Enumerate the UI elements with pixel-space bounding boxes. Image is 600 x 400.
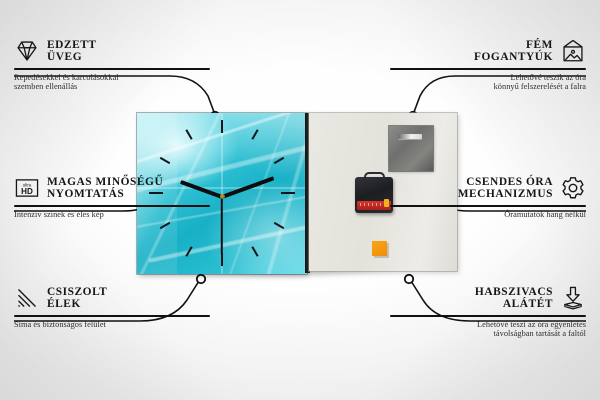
feature-subtitle: Lehetővé teszi az óra egyenletes távolsá…: [390, 320, 586, 340]
clock-tick: [160, 157, 171, 164]
feature-title: MAGAS MINŐSÉGŰ NYOMTATÁS: [47, 176, 163, 201]
infographic-canvas: EDZETT ÜVEG Repedésekkel és karcolásokka…: [0, 0, 600, 400]
feature-foam-pad: HABSZIVACS ALÁTÉT Lehetővé teszi az óra …: [390, 285, 586, 339]
picture-hanger-icon: [560, 38, 586, 64]
clock-tick: [251, 129, 258, 140]
foam-pad: [372, 241, 387, 256]
battery-plus-marker: [384, 199, 389, 207]
feature-divider: [390, 205, 586, 207]
feature-divider: [14, 315, 210, 317]
feature-tempered-glass: EDZETT ÜVEG Repedésekkel és karcolásokka…: [14, 38, 210, 92]
feature-title: HABSZIVACS ALÁTÉT: [475, 286, 553, 311]
clock-tick: [274, 222, 285, 229]
feature-silent-mechanism: CSENDES ÓRA MECHANIZMUS Óramutatók hang …: [390, 175, 586, 219]
feature-title: EDZETT ÜVEG: [47, 39, 97, 64]
feature-title: CSENDES ÓRA MECHANIZMUS: [458, 176, 553, 201]
feature-polished-edges: CSISZOLT ÉLEK Sima és biztonságos felüle…: [14, 285, 210, 329]
clock-hand-second: [221, 197, 223, 255]
diamond-icon: [14, 38, 40, 64]
feature-divider: [390, 68, 586, 70]
feature-title: CSISZOLT ÉLEK: [47, 286, 107, 311]
clock-hand-minute: [221, 176, 274, 199]
svg-text:HD: HD: [21, 187, 33, 196]
clock-tick: [221, 120, 223, 133]
clock-tick: [274, 157, 285, 164]
foam-press-icon: [560, 285, 586, 311]
clock-tick: [185, 129, 192, 140]
feature-metal-handles: FÉM FOGANTYÚK Lehetővé teszik az óra kön…: [390, 38, 586, 92]
feature-divider: [14, 68, 210, 70]
feature-subtitle: Repedésekkel és karcolásokkal szemben el…: [14, 73, 210, 93]
feature-subtitle: Lehetővé teszik az óra könnyű felszerelé…: [390, 73, 586, 93]
feature-high-quality-print: ultra HD MAGAS MINŐSÉGŰ NYOMTATÁS Intenz…: [14, 175, 210, 219]
battery-label: [357, 201, 391, 210]
clock-tick: [281, 192, 295, 194]
feature-title: FÉM FOGANTYÚK: [474, 39, 553, 64]
hanger-slot: [398, 134, 422, 139]
polished-edge-icon: [14, 285, 40, 311]
clock-tick: [221, 253, 223, 266]
clock-center-pin: [220, 194, 225, 199]
movement-handle: [364, 172, 385, 181]
gear-icon: [560, 175, 586, 201]
feature-subtitle: Sima és biztonságos felület: [14, 320, 210, 330]
feature-divider: [14, 205, 210, 207]
ultra-hd-icon: ultra HD: [14, 175, 40, 201]
feature-subtitle: Intenzív színek és éles kép: [14, 210, 210, 220]
clock-tick: [185, 246, 192, 257]
clock-movement-box: [355, 177, 393, 213]
clock-tick: [160, 222, 171, 229]
feature-divider: [390, 315, 586, 317]
battery-label-stripes: [360, 203, 382, 206]
clock-tick: [251, 246, 258, 257]
metal-hanger-plate: [389, 126, 433, 171]
feature-subtitle: Óramutatók hang nélkül: [390, 210, 586, 220]
